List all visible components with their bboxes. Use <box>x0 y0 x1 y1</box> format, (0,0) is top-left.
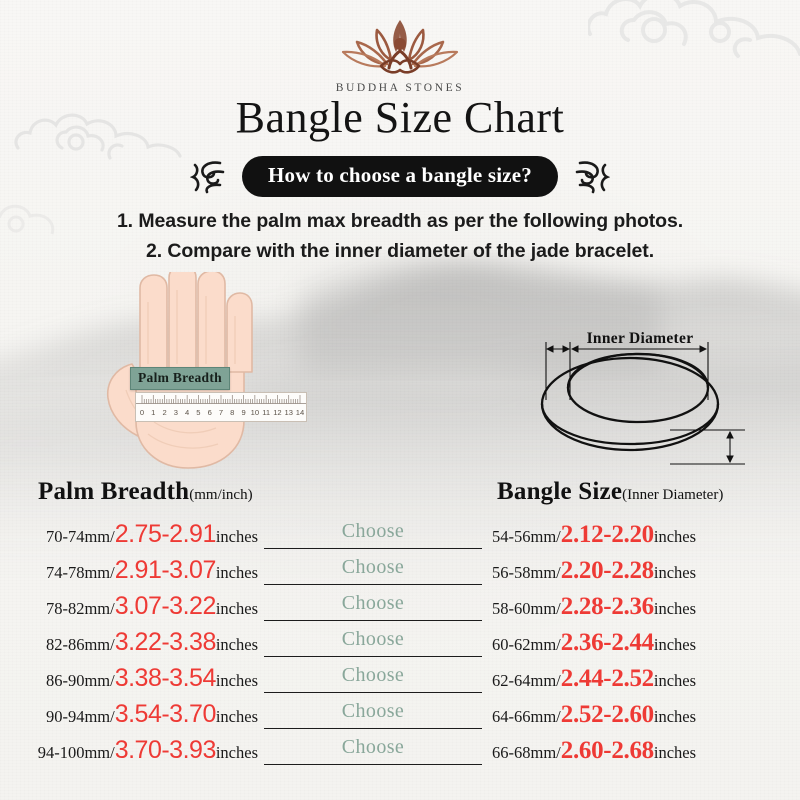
choose-label: Choose <box>262 700 484 723</box>
bangle-inch-unit: inches <box>654 743 696 763</box>
bangle-inch-unit: inches <box>654 563 696 583</box>
banner-question: How to choose a bangle size? <box>242 156 558 197</box>
table-row: 64-66mm/2.52-2.60inches <box>492 702 792 738</box>
instruction-step-1: 1. Measure the palm max breadth as per t… <box>0 206 800 236</box>
palm-inch-unit: inches <box>216 563 258 583</box>
palm-inch-unit: inches <box>216 599 258 619</box>
table-row: 82-86mm/3.22-3.38inches <box>26 630 258 666</box>
table-row: 78-82mm/3.07-3.22inches <box>26 594 258 630</box>
choose-column: ChooseChooseChooseChooseChooseChooseChoo… <box>262 522 484 774</box>
ruler-number: 1 <box>151 408 155 417</box>
choose-field[interactable]: Choose <box>262 630 484 666</box>
bangle-inch-unit: inches <box>654 599 696 619</box>
palm-breadth-label: Palm Breadth <box>130 367 230 390</box>
bangle-ring-icon <box>520 326 750 476</box>
ruler-number: 14 <box>296 408 304 417</box>
bangle-mm-value: 60-62mm/ <box>492 635 561 655</box>
bangle-inch-unit: inches <box>654 635 696 655</box>
ruler: 01234567891011121314 <box>135 392 307 422</box>
choose-label: Choose <box>262 628 484 651</box>
section-header-palm-breadth: Palm Breadth(mm/inch) <box>38 478 253 506</box>
palm-inch-value: 2.91-3.07 <box>115 558 216 583</box>
palm-mm-value: 94-100mm/ <box>38 743 115 763</box>
choose-underline <box>264 728 482 729</box>
section-title-palm: Palm Breadth <box>38 478 189 505</box>
palm-breadth-table: 70-74mm/2.75-2.91inches74-78mm/2.91-3.07… <box>26 522 258 774</box>
bangle-inch-unit: inches <box>654 527 696 547</box>
choose-field[interactable]: Choose <box>262 738 484 774</box>
choose-underline <box>264 584 482 585</box>
table-row: 60-62mm/2.36-2.44inches <box>492 630 792 666</box>
choose-label: Choose <box>262 556 484 579</box>
table-row: 94-100mm/3.70-3.93inches <box>26 738 258 774</box>
banner-row: How to choose a bangle size? <box>0 156 800 197</box>
palm-inch-unit: inches <box>216 635 258 655</box>
ruler-number: 0 <box>140 408 144 417</box>
bangle-mm-value: 64-66mm/ <box>492 707 561 727</box>
section-title-bangle: Bangle Size <box>497 478 622 505</box>
ruler-number: 6 <box>208 408 212 417</box>
bangle-inch-value: 2.44-2.52 <box>561 666 654 691</box>
table-row: 56-58mm/2.20-2.28inches <box>492 558 792 594</box>
palm-mm-value: 82-86mm/ <box>46 635 115 655</box>
choose-label: Choose <box>262 592 484 615</box>
palm-inch-unit: inches <box>216 527 258 547</box>
bangle-mm-value: 56-58mm/ <box>492 563 561 583</box>
palm-inch-unit: inches <box>216 743 258 763</box>
ruler-number: 7 <box>219 408 223 417</box>
brand-logo-block: BUDDHA STONES <box>0 8 800 94</box>
ruler-number: 8 <box>230 408 234 417</box>
choose-field[interactable]: Choose <box>262 558 484 594</box>
palm-mm-value: 90-94mm/ <box>46 707 115 727</box>
ruler-ticks <box>136 393 306 404</box>
ruler-number: 13 <box>284 408 292 417</box>
table-row: 74-78mm/2.91-3.07inches <box>26 558 258 594</box>
bangle-mm-value: 54-56mm/ <box>492 527 561 547</box>
bangle-inch-value: 2.60-2.68 <box>561 738 654 763</box>
instruction-step-2: 2. Compare with the inner diameter of th… <box>0 236 800 266</box>
bangle-mm-value: 62-64mm/ <box>492 671 561 691</box>
bangle-inch-value: 2.12-2.20 <box>561 522 654 547</box>
choose-underline <box>264 656 482 657</box>
palm-inch-value: 3.38-3.54 <box>115 666 216 691</box>
bangle-inch-value: 2.52-2.60 <box>561 702 654 727</box>
ruler-number: 10 <box>251 408 259 417</box>
page-title: Bangle Size Chart <box>0 92 800 143</box>
ruler-number: 11 <box>262 408 270 417</box>
palm-inch-value: 3.54-3.70 <box>115 702 216 727</box>
bangle-size-chart-page: BUDDHA STONES Bangle Size Chart How to c… <box>0 0 800 800</box>
palm-inch-value: 3.70-3.93 <box>115 738 216 763</box>
choose-field[interactable]: Choose <box>262 522 484 558</box>
bangle-mm-value: 58-60mm/ <box>492 599 561 619</box>
choose-field[interactable]: Choose <box>262 666 484 702</box>
ruler-number: 9 <box>241 408 245 417</box>
choose-label: Choose <box>262 736 484 759</box>
section-unit-palm: (mm/inch) <box>189 487 252 503</box>
cloud-swirl-left-icon <box>190 157 228 197</box>
choose-label: Choose <box>262 664 484 687</box>
choose-underline <box>264 764 482 765</box>
palm-mm-value: 86-90mm/ <box>46 671 115 691</box>
bangle-inch-unit: inches <box>654 707 696 727</box>
table-row: 90-94mm/3.54-3.70inches <box>26 702 258 738</box>
palm-mm-value: 74-78mm/ <box>46 563 115 583</box>
palm-inch-value: 3.07-3.22 <box>115 594 216 619</box>
choose-field[interactable]: Choose <box>262 594 484 630</box>
ruler-number: 4 <box>185 408 189 417</box>
bangle-inch-unit: inches <box>654 671 696 691</box>
bangle-mm-value: 66-68mm/ <box>492 743 561 763</box>
palm-inch-value: 2.75-2.91 <box>115 522 216 547</box>
table-row: 58-60mm/2.28-2.36inches <box>492 594 792 630</box>
section-unit-bangle: (Inner Diameter) <box>622 487 723 503</box>
table-row: 62-64mm/2.44-2.52inches <box>492 666 792 702</box>
bangle-size-table: 54-56mm/2.12-2.20inches56-58mm/2.20-2.28… <box>492 522 792 774</box>
choose-underline <box>264 620 482 621</box>
choose-underline <box>264 548 482 549</box>
table-row: 86-90mm/3.38-3.54inches <box>26 666 258 702</box>
table-row: 54-56mm/2.12-2.20inches <box>492 522 792 558</box>
palm-inch-value: 3.22-3.38 <box>115 630 216 655</box>
choose-field[interactable]: Choose <box>262 702 484 738</box>
choose-label: Choose <box>262 520 484 543</box>
lotus-meditation-icon <box>337 8 463 80</box>
ruler-number: 3 <box>174 408 178 417</box>
bangle-inch-value: 2.20-2.28 <box>561 558 654 583</box>
ruler-numbers: 01234567891011121314 <box>136 404 306 420</box>
palm-inch-unit: inches <box>216 671 258 691</box>
cloud-swirl-right-icon <box>572 157 610 197</box>
table-row: 70-74mm/2.75-2.91inches <box>26 522 258 558</box>
ruler-number: 5 <box>196 408 200 417</box>
palm-inch-unit: inches <box>216 707 258 727</box>
bangle-inch-value: 2.28-2.36 <box>561 594 654 619</box>
bangle-inch-value: 2.36-2.44 <box>561 630 654 655</box>
section-header-bangle-size: Bangle Size(Inner Diameter) <box>497 478 723 506</box>
ruler-number: 2 <box>162 408 166 417</box>
choose-underline <box>264 692 482 693</box>
ruler-number: 12 <box>273 408 281 417</box>
palm-mm-value: 70-74mm/ <box>46 527 115 547</box>
instruction-steps: 1. Measure the palm max breadth as per t… <box>0 206 800 266</box>
table-row: 66-68mm/2.60-2.68inches <box>492 738 792 774</box>
palm-mm-value: 78-82mm/ <box>46 599 115 619</box>
